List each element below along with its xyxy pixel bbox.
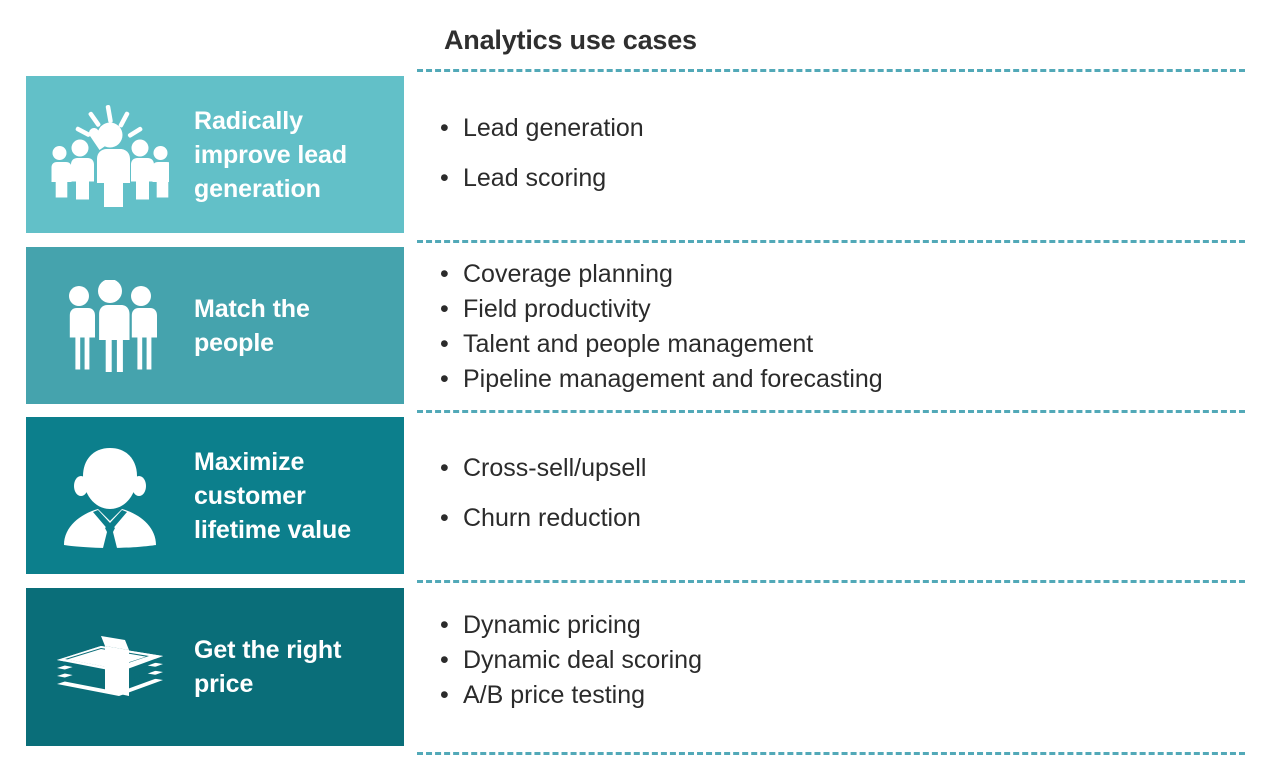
list-item: Talent and people management <box>440 327 1240 362</box>
divider-top <box>417 69 1245 72</box>
label-box-row-1[interactable]: Radically improve lead generation <box>26 76 404 233</box>
label-box-row-2[interactable]: Match the people <box>26 247 404 404</box>
label-box-row-4[interactable]: Get the right price <box>26 588 404 746</box>
bullet-list-row-1: Lead generation Lead scoring <box>440 103 1240 203</box>
label-text-row-2: Match the people <box>194 292 404 360</box>
list-item: Field productivity <box>440 292 1240 327</box>
list-item: Churn reduction <box>440 493 1240 543</box>
list-item: Pipeline management and forecasting <box>440 362 1240 397</box>
bullet-list-row-4: Dynamic pricing Dynamic deal scoring A/B… <box>440 608 1240 713</box>
list-item: Lead generation <box>440 103 1240 153</box>
label-text-row-1: Radically improve lead generation <box>194 104 404 206</box>
list-item: Cross-sell/upsell <box>440 443 1240 493</box>
label-text-row-3: Maximize customer lifetime value <box>194 445 404 547</box>
bullet-list-row-2: Coverage planning Field productivity Tal… <box>440 257 1240 397</box>
infographic-canvas: Analytics use cases <box>0 0 1280 783</box>
label-text-row-4: Get the right price <box>194 633 404 701</box>
list-item: Lead scoring <box>440 153 1240 203</box>
page-title: Analytics use cases <box>444 25 697 56</box>
divider-2 <box>417 410 1245 413</box>
money-stack-icon <box>26 630 194 704</box>
businessman-bust-icon <box>26 444 194 548</box>
leader-with-crowd-icon <box>26 103 194 207</box>
three-people-icon <box>26 280 194 372</box>
list-item: Coverage planning <box>440 257 1240 292</box>
divider-3 <box>417 580 1245 583</box>
bullet-list-row-3: Cross-sell/upsell Churn reduction <box>440 443 1240 543</box>
list-item: A/B price testing <box>440 678 1240 713</box>
list-item: Dynamic pricing <box>440 608 1240 643</box>
label-box-row-3[interactable]: Maximize customer lifetime value <box>26 417 404 574</box>
list-item: Dynamic deal scoring <box>440 643 1240 678</box>
divider-1 <box>417 240 1245 243</box>
divider-bottom <box>417 752 1245 755</box>
